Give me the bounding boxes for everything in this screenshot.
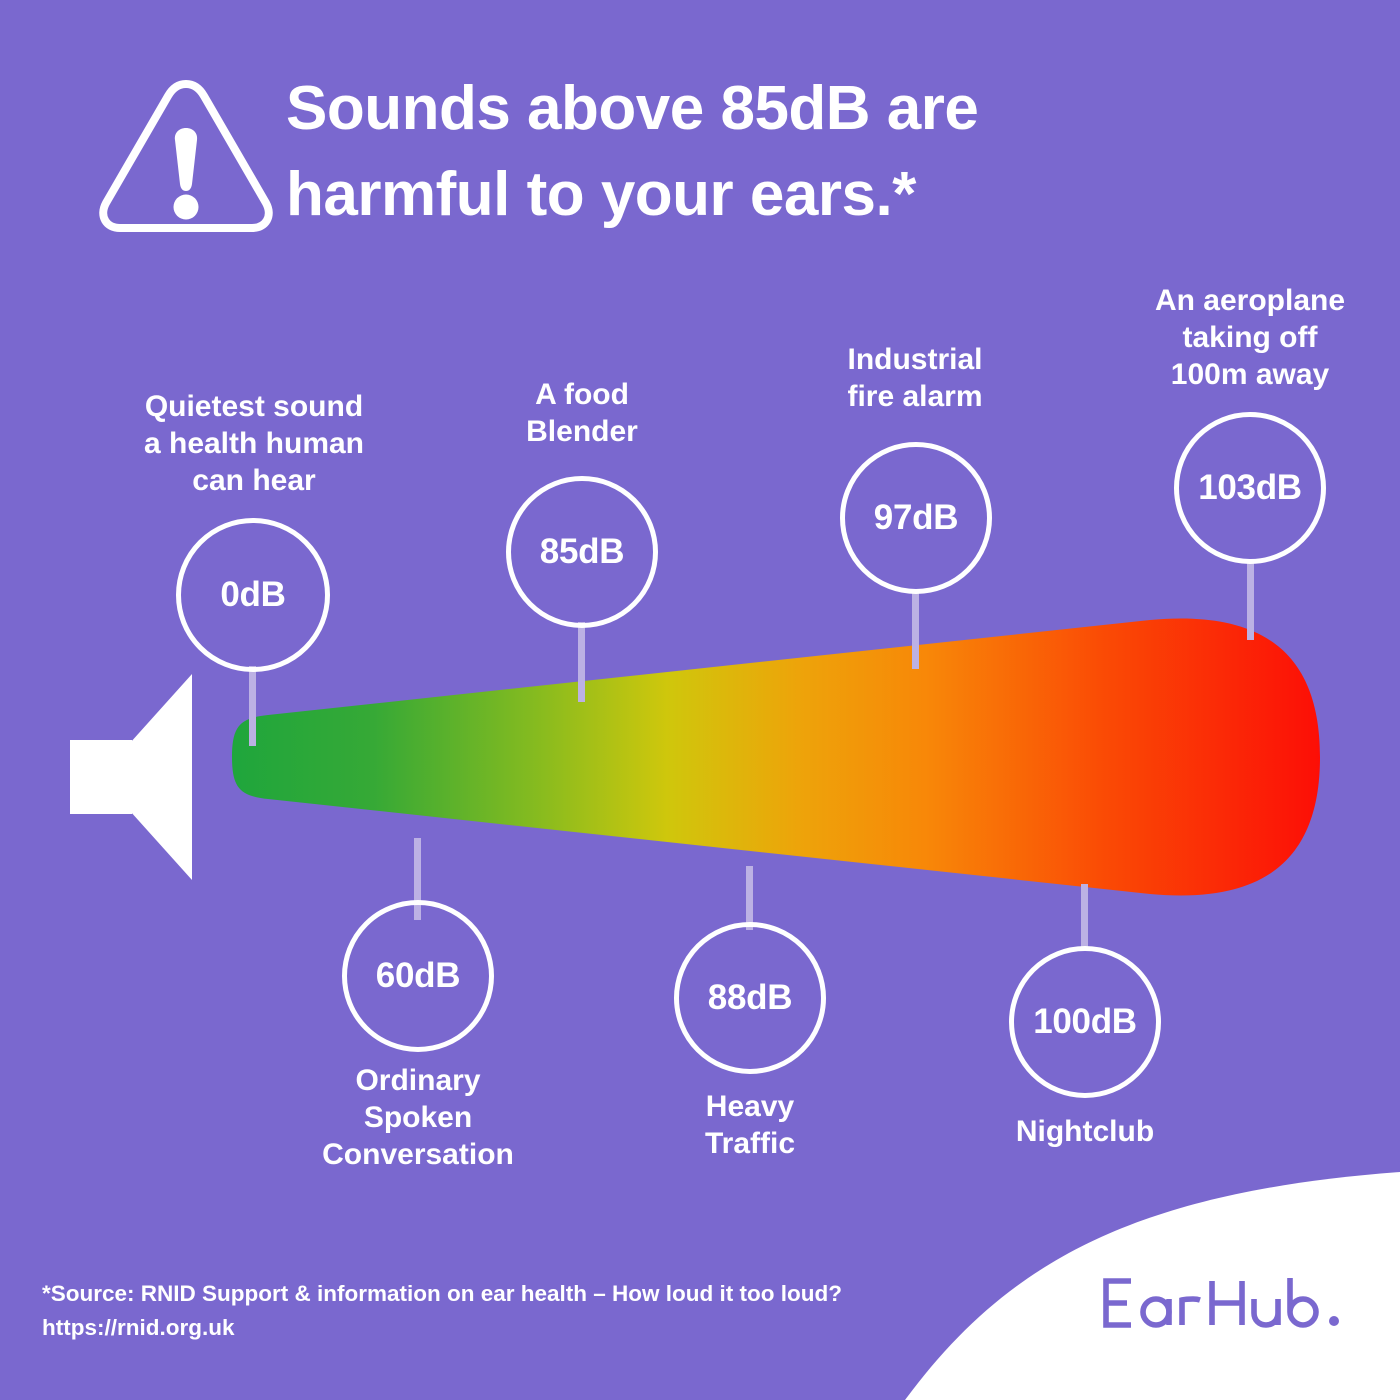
node-85db-value: 85dB: [540, 532, 624, 572]
node-88db-connector: [746, 866, 753, 930]
node-88db-circle[interactable]: 88dB: [674, 922, 826, 1074]
node-97db-value: 97dB: [874, 498, 958, 538]
node-103db-circle[interactable]: 103dB: [1174, 412, 1326, 564]
node-0db-connector: [249, 666, 256, 746]
source-note: *Source: RNID Support & information on e…: [42, 1277, 902, 1345]
page-title: Sounds above 85dB are harmful to your ea…: [286, 66, 1166, 237]
node-103db-value: 103dB: [1198, 468, 1302, 508]
source-note-line-1: *Source: RNID Support & information on e…: [42, 1277, 902, 1311]
node-100db-label: Nightclub: [965, 1113, 1205, 1150]
warning-triangle-icon: [96, 72, 276, 237]
node-97db-label: Industrial fire alarm: [795, 341, 1035, 415]
sound-levels-infographic: Sounds above 85dB are harmful to your ea…: [0, 0, 1400, 1400]
page-title-line-1: Sounds above 85dB are: [286, 66, 1166, 152]
speaker-icon: [70, 672, 205, 882]
node-97db-circle[interactable]: 97dB: [840, 442, 992, 594]
node-85db-label: A food Blender: [462, 376, 702, 450]
node-0db-circle[interactable]: 0dB: [176, 518, 330, 672]
node-60db-value: 60dB: [376, 956, 460, 996]
earhub-logo[interactable]: [1100, 1272, 1350, 1334]
node-88db-value: 88dB: [708, 978, 792, 1018]
header: Sounds above 85dB are harmful to your ea…: [0, 0, 1400, 260]
node-60db-circle[interactable]: 60dB: [342, 900, 494, 1052]
node-103db-label: An aeroplane taking off 100m away: [1130, 282, 1370, 394]
node-100db-connector: [1081, 884, 1088, 948]
node-0db-value: 0dB: [220, 575, 285, 615]
node-100db-circle[interactable]: 100dB: [1009, 946, 1161, 1098]
node-0db-label: Quietest sound a health human can hear: [124, 388, 384, 500]
node-60db-label: Ordinary Spoken Conversation: [298, 1062, 538, 1174]
node-97db-connector: [912, 589, 919, 669]
source-note-line-2: https://rnid.org.uk: [42, 1311, 902, 1345]
page-title-line-2: harmful to your ears.*: [286, 152, 1166, 238]
node-100db-value: 100dB: [1033, 1002, 1137, 1042]
node-85db-connector: [578, 622, 585, 702]
node-85db-circle[interactable]: 85dB: [506, 476, 658, 628]
node-88db-label: Heavy Traffic: [630, 1088, 870, 1162]
node-103db-connector: [1247, 560, 1254, 640]
